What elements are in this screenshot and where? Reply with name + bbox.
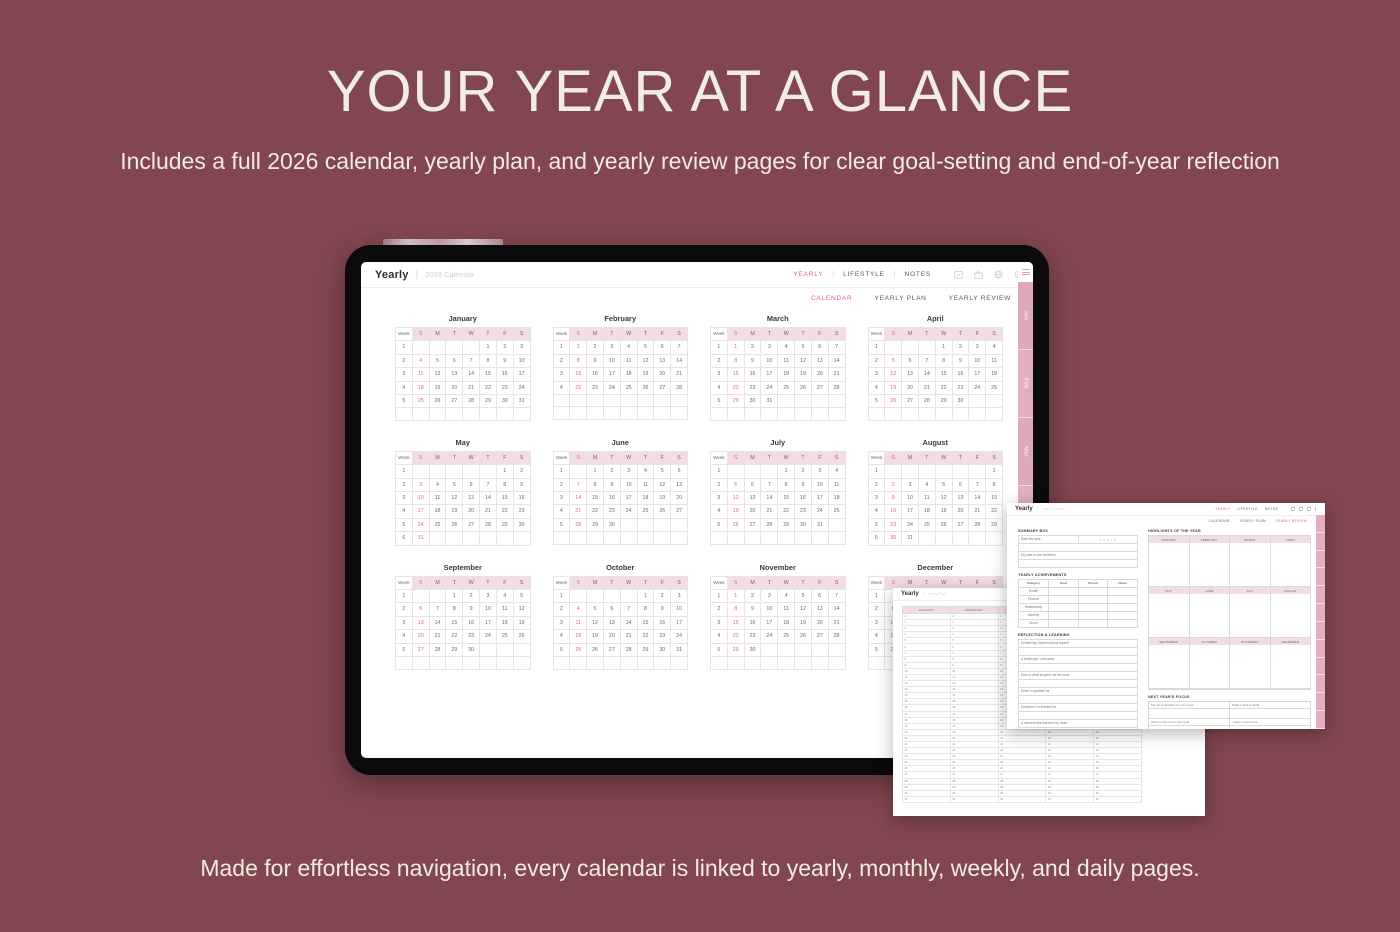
day-cell[interactable]: 25 <box>778 381 795 394</box>
day-cell[interactable]: 3 <box>902 478 919 491</box>
day-cell[interactable]: 4 <box>637 465 654 478</box>
plan-day-cell[interactable]: 31 <box>950 796 998 802</box>
day-cell[interactable]: 17 <box>761 368 778 381</box>
review-nav-lifestyle[interactable]: LIFESTYLE <box>1237 507 1258 511</box>
day-cell[interactable] <box>654 657 671 669</box>
day-cell[interactable]: 18 <box>986 368 1003 381</box>
day-cell[interactable]: 3 <box>603 341 620 354</box>
day-cell[interactable]: 31 <box>902 532 919 545</box>
day-cell[interactable] <box>620 518 637 531</box>
day-cell[interactable]: 16 <box>795 492 812 505</box>
reflection-answer-row[interactable] <box>1019 680 1137 688</box>
day-cell[interactable]: 14 <box>570 492 587 505</box>
day-cell[interactable]: 4 <box>986 341 1003 354</box>
day-cell[interactable]: 25 <box>918 518 935 531</box>
day-cell[interactable] <box>902 465 919 478</box>
day-cell[interactable]: 30 <box>513 518 530 531</box>
day-cell[interactable] <box>744 465 761 478</box>
review-tab-7[interactable] <box>1316 622 1325 640</box>
day-cell[interactable] <box>969 408 986 420</box>
day-cell[interactable]: 12 <box>727 492 744 505</box>
day-cell[interactable]: 13 <box>671 478 688 491</box>
day-cell[interactable]: 8 <box>496 478 513 491</box>
day-cell[interactable] <box>620 395 637 407</box>
day-cell[interactable]: 4 <box>620 341 637 354</box>
day-cell[interactable]: 30 <box>952 395 969 408</box>
side-tab-feb[interactable]: Feb <box>1018 350 1033 418</box>
day-cell[interactable]: 4 <box>570 603 587 616</box>
day-cell[interactable]: 4 <box>496 590 513 603</box>
day-cell[interactable]: 22 <box>587 505 604 518</box>
day-cell[interactable] <box>654 518 671 531</box>
day-cell[interactable]: 25 <box>570 643 587 656</box>
day-cell[interactable] <box>570 657 587 669</box>
day-cell[interactable] <box>496 532 513 545</box>
day-cell[interactable] <box>671 518 688 531</box>
day-cell[interactable]: 28 <box>969 518 986 531</box>
day-cell[interactable]: 12 <box>513 603 530 616</box>
briefcase-icon[interactable] <box>1299 507 1303 511</box>
day-cell[interactable]: 23 <box>744 381 761 394</box>
day-cell[interactable]: 14 <box>828 354 845 367</box>
day-cell[interactable]: 5 <box>935 478 952 491</box>
day-cell[interactable]: 16 <box>513 492 530 505</box>
day-cell[interactable]: 9 <box>603 478 620 491</box>
day-cell[interactable] <box>727 408 744 420</box>
day-cell[interactable] <box>429 657 446 669</box>
day-cell[interactable] <box>778 657 795 669</box>
day-cell[interactable]: 15 <box>986 492 1003 505</box>
day-cell[interactable] <box>744 532 761 544</box>
day-cell[interactable] <box>480 657 497 669</box>
day-cell[interactable]: 28 <box>570 518 587 531</box>
day-cell[interactable]: 30 <box>603 518 620 531</box>
day-cell[interactable]: 6 <box>412 603 429 616</box>
day-cell[interactable]: 7 <box>969 478 986 491</box>
hamburger-icon[interactable] <box>1018 262 1033 282</box>
day-cell[interactable] <box>811 657 828 669</box>
day-cell[interactable]: 10 <box>620 478 637 491</box>
day-cell[interactable]: 27 <box>811 630 828 643</box>
day-cell[interactable] <box>480 532 497 545</box>
day-cell[interactable]: 11 <box>570 616 587 629</box>
day-cell[interactable]: 22 <box>727 630 744 643</box>
day-cell[interactable] <box>480 408 497 420</box>
review-tab-2[interactable] <box>1316 533 1325 551</box>
day-cell[interactable]: 16 <box>654 616 671 629</box>
day-cell[interactable]: 19 <box>795 368 812 381</box>
day-cell[interactable]: 9 <box>513 478 530 491</box>
month-block-june[interactable]: JuneWeekSMTWTFS1123456278910111213314151… <box>553 438 689 546</box>
day-cell[interactable] <box>727 532 744 544</box>
day-cell[interactable]: 12 <box>654 478 671 491</box>
day-cell[interactable]: 5 <box>654 465 671 478</box>
day-cell[interactable]: 4 <box>429 478 446 491</box>
day-cell[interactable]: 30 <box>654 643 671 656</box>
day-cell[interactable]: 6 <box>446 354 463 367</box>
day-cell[interactable] <box>446 465 463 478</box>
day-cell[interactable]: 3 <box>412 478 429 491</box>
day-cell[interactable]: 27 <box>671 505 688 518</box>
day-cell[interactable]: 20 <box>463 505 480 518</box>
day-cell[interactable]: 29 <box>727 643 744 656</box>
day-cell[interactable] <box>885 408 902 420</box>
reflection-answer[interactable] <box>1019 680 1137 687</box>
day-cell[interactable]: 9 <box>463 603 480 616</box>
achievements-notes[interactable] <box>1108 620 1137 627</box>
day-cell[interactable] <box>637 395 654 407</box>
day-cell[interactable]: 5 <box>637 341 654 354</box>
day-cell[interactable]: 7 <box>463 354 480 367</box>
day-cell[interactable]: 13 <box>654 354 671 367</box>
day-cell[interactable]: 8 <box>727 603 744 616</box>
day-cell[interactable]: 14 <box>480 492 497 505</box>
reflection-answer-row[interactable] <box>1019 648 1137 656</box>
day-cell[interactable]: 9 <box>654 603 671 616</box>
day-cell[interactable]: 6 <box>811 590 828 603</box>
day-cell[interactable]: 8 <box>570 354 587 367</box>
achievements-row[interactable]: Relationship <box>1019 604 1137 612</box>
day-cell[interactable]: 1 <box>570 341 587 354</box>
day-cell[interactable]: 5 <box>429 354 446 367</box>
review-tab-4[interactable] <box>1316 568 1325 586</box>
month-block-april[interactable]: AprilWeekSMTWTFS112342567891011312131415… <box>868 314 1004 421</box>
review-nav-notes[interactable]: NOTES <box>1265 507 1278 511</box>
day-cell[interactable]: 22 <box>778 505 795 518</box>
day-cell[interactable]: 24 <box>761 381 778 394</box>
day-cell[interactable]: 29 <box>986 518 1003 531</box>
review-nav-yearly[interactable]: YEARLY <box>1215 507 1230 511</box>
day-cell[interactable]: 12 <box>795 354 812 367</box>
day-cell[interactable]: 18 <box>918 505 935 518</box>
day-cell[interactable]: 19 <box>654 492 671 505</box>
day-cell[interactable]: 15 <box>727 616 744 629</box>
day-cell[interactable]: 19 <box>637 368 654 381</box>
day-cell[interactable]: 2 <box>463 590 480 603</box>
day-cell[interactable]: 9 <box>795 478 812 491</box>
day-cell[interactable]: 11 <box>429 492 446 505</box>
day-cell[interactable]: 28 <box>620 643 637 656</box>
day-cell[interactable]: 20 <box>952 505 969 518</box>
day-cell[interactable] <box>744 408 761 420</box>
day-cell[interactable] <box>778 532 795 544</box>
day-cell[interactable]: 14 <box>828 603 845 616</box>
day-cell[interactable]: 26 <box>429 395 446 408</box>
day-cell[interactable]: 5 <box>885 354 902 367</box>
plan-day-cell[interactable]: 31 <box>1094 796 1142 802</box>
day-cell[interactable] <box>429 590 446 603</box>
day-cell[interactable] <box>828 643 845 656</box>
review-tab-9[interactable] <box>1316 658 1325 676</box>
reflection-answer[interactable] <box>1019 648 1137 655</box>
review-tab-11[interactable] <box>1316 693 1325 711</box>
next-year-answer[interactable] <box>1230 726 1310 729</box>
day-cell[interactable]: 27 <box>412 643 429 656</box>
day-cell[interactable]: 3 <box>513 341 530 354</box>
day-cell[interactable]: 9 <box>744 354 761 367</box>
day-cell[interactable]: 5 <box>446 478 463 491</box>
day-cell[interactable]: 7 <box>570 478 587 491</box>
day-cell[interactable] <box>570 465 587 478</box>
day-cell[interactable]: 29 <box>727 395 744 408</box>
day-cell[interactable] <box>902 341 919 354</box>
day-cell[interactable] <box>795 643 812 656</box>
day-cell[interactable]: 19 <box>446 505 463 518</box>
day-cell[interactable]: 12 <box>885 368 902 381</box>
day-cell[interactable]: 8 <box>935 354 952 367</box>
review-tab-1[interactable] <box>1316 515 1325 533</box>
day-cell[interactable]: 26 <box>935 518 952 531</box>
day-cell[interactable] <box>918 532 935 545</box>
day-cell[interactable]: 2 <box>885 478 902 491</box>
day-cell[interactable]: 3 <box>811 465 828 478</box>
day-cell[interactable]: 24 <box>412 518 429 531</box>
day-cell[interactable] <box>935 532 952 545</box>
day-cell[interactable]: 15 <box>496 492 513 505</box>
day-cell[interactable]: 14 <box>429 616 446 629</box>
day-cell[interactable]: 13 <box>811 354 828 367</box>
day-cell[interactable] <box>918 465 935 478</box>
review-subnav-calendar[interactable]: CALENDAR <box>1209 519 1230 523</box>
day-cell[interactable] <box>412 590 429 603</box>
day-cell[interactable]: 15 <box>727 368 744 381</box>
day-cell[interactable]: 27 <box>654 381 671 394</box>
highlights-cell[interactable] <box>1190 594 1231 638</box>
day-cell[interactable]: 4 <box>918 478 935 491</box>
day-cell[interactable]: 4 <box>412 354 429 367</box>
next-year-input-row[interactable] <box>1149 709 1310 719</box>
highlights-cell[interactable] <box>1271 543 1311 587</box>
day-cell[interactable]: 21 <box>671 368 688 381</box>
achievements-result[interactable] <box>1079 620 1109 627</box>
day-cell[interactable] <box>969 395 986 408</box>
day-cell[interactable]: 25 <box>412 395 429 408</box>
day-cell[interactable]: 27 <box>446 395 463 408</box>
day-cell[interactable]: 22 <box>496 505 513 518</box>
day-cell[interactable]: 8 <box>778 478 795 491</box>
day-cell[interactable]: 26 <box>795 381 812 394</box>
day-cell[interactable]: 12 <box>429 368 446 381</box>
day-cell[interactable]: 16 <box>952 368 969 381</box>
day-cell[interactable]: 23 <box>463 630 480 643</box>
day-cell[interactable]: 25 <box>637 505 654 518</box>
day-cell[interactable]: 15 <box>446 616 463 629</box>
day-cell[interactable]: 9 <box>496 354 513 367</box>
day-cell[interactable]: 19 <box>513 616 530 629</box>
day-cell[interactable]: 25 <box>778 630 795 643</box>
day-cell[interactable]: 24 <box>513 381 530 394</box>
day-cell[interactable]: 27 <box>603 643 620 656</box>
day-cell[interactable]: 21 <box>828 368 845 381</box>
reflection-answer-row[interactable] <box>1019 696 1137 704</box>
highlights-cell[interactable] <box>1271 645 1311 689</box>
day-cell[interactable]: 17 <box>902 505 919 518</box>
day-cell[interactable]: 26 <box>885 395 902 408</box>
day-cell[interactable]: 23 <box>496 381 513 394</box>
day-cell[interactable]: 18 <box>429 505 446 518</box>
day-cell[interactable] <box>446 408 463 420</box>
review-tab-8[interactable] <box>1316 640 1325 658</box>
day-cell[interactable]: 17 <box>671 616 688 629</box>
day-cell[interactable] <box>828 532 845 544</box>
achievements-goal[interactable] <box>1049 620 1079 627</box>
day-cell[interactable] <box>620 407 637 419</box>
day-cell[interactable]: 7 <box>761 478 778 491</box>
day-cell[interactable]: 24 <box>620 505 637 518</box>
achievements-goal[interactable] <box>1049 596 1079 603</box>
day-cell[interactable]: 19 <box>429 381 446 394</box>
day-cell[interactable]: 20 <box>811 616 828 629</box>
day-cell[interactable] <box>828 395 845 408</box>
day-cell[interactable]: 2 <box>744 590 761 603</box>
day-cell[interactable] <box>446 532 463 545</box>
day-cell[interactable] <box>935 465 952 478</box>
day-cell[interactable] <box>671 395 688 407</box>
day-cell[interactable]: 14 <box>969 492 986 505</box>
day-cell[interactable]: 7 <box>918 354 935 367</box>
day-cell[interactable] <box>429 465 446 478</box>
month-block-january[interactable]: JanuaryWeekSMTWTFS1123245678910311121314… <box>395 314 531 421</box>
yearly-review-sheet[interactable]: Yearly | Yearly Review YEARLY LIFESTYLE … <box>1007 503 1325 729</box>
review-tab-5[interactable] <box>1316 586 1325 604</box>
day-cell[interactable] <box>603 407 620 419</box>
day-cell[interactable]: 11 <box>496 603 513 616</box>
achievements-notes[interactable] <box>1108 612 1137 619</box>
day-cell[interactable]: 10 <box>761 354 778 367</box>
day-cell[interactable]: 28 <box>918 395 935 408</box>
day-cell[interactable]: 26 <box>727 518 744 531</box>
day-cell[interactable]: 2 <box>744 341 761 354</box>
next-year-answer[interactable] <box>1230 709 1310 718</box>
day-cell[interactable]: 4 <box>828 465 845 478</box>
day-cell[interactable]: 11 <box>778 603 795 616</box>
day-cell[interactable]: 9 <box>744 603 761 616</box>
day-cell[interactable]: 6 <box>952 478 969 491</box>
day-cell[interactable] <box>918 408 935 420</box>
day-cell[interactable]: 3 <box>620 465 637 478</box>
next-year-answer[interactable] <box>1149 726 1230 729</box>
day-cell[interactable]: 5 <box>795 341 812 354</box>
day-cell[interactable] <box>463 408 480 420</box>
day-cell[interactable]: 24 <box>902 518 919 531</box>
day-cell[interactable] <box>795 532 812 544</box>
day-cell[interactable]: 8 <box>986 478 1003 491</box>
day-cell[interactable] <box>429 341 446 354</box>
day-cell[interactable]: 6 <box>463 478 480 491</box>
day-cell[interactable]: 1 <box>480 341 497 354</box>
day-cell[interactable]: 17 <box>412 505 429 518</box>
day-cell[interactable] <box>603 590 620 603</box>
day-cell[interactable]: 21 <box>761 505 778 518</box>
day-cell[interactable]: 24 <box>480 630 497 643</box>
day-cell[interactable]: 20 <box>654 368 671 381</box>
day-cell[interactable]: 20 <box>744 505 761 518</box>
achievements-result[interactable] <box>1079 604 1109 611</box>
highlights-cell[interactable] <box>1149 594 1190 638</box>
reflection-answer[interactable] <box>1019 712 1137 719</box>
day-cell[interactable] <box>463 657 480 669</box>
day-cell[interactable]: 11 <box>986 354 1003 367</box>
day-cell[interactable] <box>778 408 795 420</box>
day-cell[interactable] <box>412 408 429 420</box>
day-cell[interactable] <box>570 407 587 419</box>
day-cell[interactable] <box>412 657 429 669</box>
day-cell[interactable] <box>570 590 587 603</box>
day-cell[interactable]: 25 <box>986 381 1003 394</box>
day-cell[interactable]: 29 <box>778 518 795 531</box>
highlights-cell[interactable] <box>1230 594 1271 638</box>
day-cell[interactable] <box>620 590 637 603</box>
day-cell[interactable]: 23 <box>603 505 620 518</box>
review-hamburger-icon[interactable] <box>1316 503 1325 515</box>
day-cell[interactable]: 15 <box>480 368 497 381</box>
day-cell[interactable]: 14 <box>620 616 637 629</box>
day-cell[interactable] <box>969 532 986 545</box>
highlights-cell[interactable] <box>1190 645 1231 689</box>
day-cell[interactable] <box>587 532 604 544</box>
day-cell[interactable]: 12 <box>795 603 812 616</box>
day-cell[interactable] <box>828 408 845 420</box>
day-cell[interactable]: 21 <box>828 616 845 629</box>
month-block-september[interactable]: SeptemberWeekSMTWTFS11234526789101112313… <box>395 563 531 670</box>
day-cell[interactable]: 15 <box>570 368 587 381</box>
day-cell[interactable] <box>496 643 513 656</box>
achievements-goal[interactable] <box>1049 612 1079 619</box>
day-cell[interactable] <box>986 408 1003 420</box>
day-cell[interactable]: 13 <box>902 368 919 381</box>
day-cell[interactable] <box>885 465 902 478</box>
day-cell[interactable] <box>671 407 688 419</box>
day-cell[interactable]: 24 <box>603 381 620 394</box>
day-cell[interactable] <box>637 407 654 419</box>
day-cell[interactable]: 20 <box>446 381 463 394</box>
month-block-may[interactable]: MayWeekSMTWTFS11223456789310111213141516… <box>395 438 531 546</box>
day-cell[interactable]: 25 <box>496 630 513 643</box>
day-cell[interactable]: 20 <box>412 630 429 643</box>
nav-notes[interactable]: NOTES <box>896 271 940 278</box>
day-cell[interactable] <box>795 408 812 420</box>
day-cell[interactable]: 19 <box>795 616 812 629</box>
month-block-august[interactable]: AugustWeekSMTWTFS11223456783910111213141… <box>868 438 1004 546</box>
day-cell[interactable] <box>918 341 935 354</box>
day-cell[interactable]: 11 <box>412 368 429 381</box>
day-cell[interactable]: 31 <box>412 532 429 545</box>
day-cell[interactable]: 18 <box>496 616 513 629</box>
achievements-goal[interactable] <box>1049 604 1079 611</box>
day-cell[interactable] <box>761 465 778 478</box>
day-cell[interactable]: 25 <box>828 505 845 518</box>
day-cell[interactable]: 23 <box>795 505 812 518</box>
day-cell[interactable]: 17 <box>603 368 620 381</box>
day-cell[interactable] <box>513 532 530 545</box>
day-cell[interactable]: 10 <box>902 492 919 505</box>
sentence-input[interactable] <box>1019 560 1137 567</box>
highlights-cell[interactable] <box>1271 594 1311 638</box>
day-cell[interactable] <box>587 407 604 419</box>
day-cell[interactable] <box>986 532 1003 545</box>
day-cell[interactable]: 19 <box>727 505 744 518</box>
day-cell[interactable] <box>828 518 845 531</box>
plan-day-cell[interactable]: 31 <box>1046 796 1094 802</box>
globe-icon[interactable] <box>994 270 1003 279</box>
day-cell[interactable]: 27 <box>463 518 480 531</box>
day-cell[interactable]: 25 <box>429 518 446 531</box>
achievements-result[interactable] <box>1079 588 1109 595</box>
day-cell[interactable] <box>727 465 744 478</box>
day-cell[interactable]: 22 <box>446 630 463 643</box>
month-block-march[interactable]: MarchWeekSMTWTFS112345672891011121314315… <box>710 314 846 421</box>
day-cell[interactable]: 12 <box>935 492 952 505</box>
